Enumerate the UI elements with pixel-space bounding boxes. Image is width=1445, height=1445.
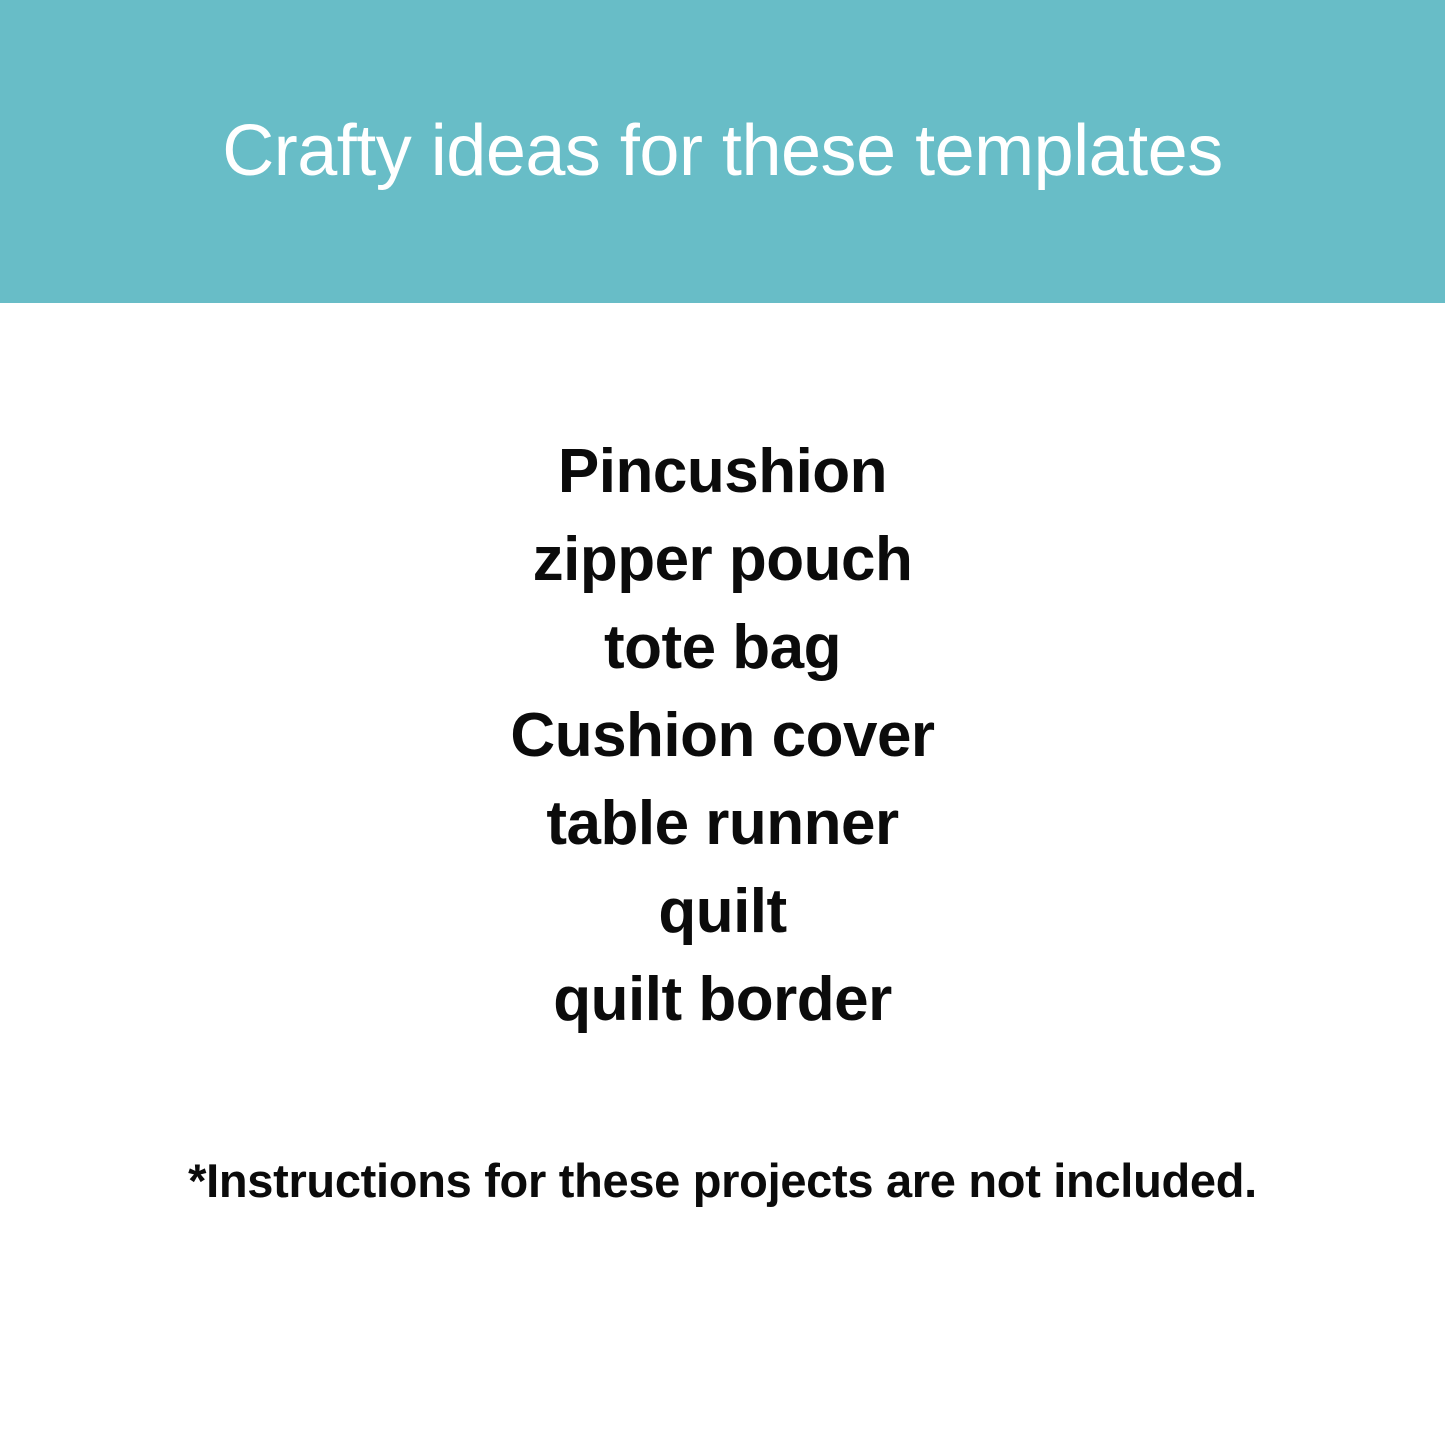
disclaimer-footnote: *Instructions for these projects are not…: [0, 1155, 1445, 1207]
product-info-graphic: Crafty ideas for these templates Pincush…: [0, 0, 1445, 1445]
content-area: Pincushion zipper pouch tote bag Cushion…: [0, 303, 1445, 1445]
page-title: Crafty ideas for these templates: [182, 112, 1262, 191]
list-item: Cushion cover: [0, 692, 1445, 780]
list-item: zipper pouch: [0, 516, 1445, 604]
list-item: tote bag: [0, 604, 1445, 692]
craft-ideas-list: Pincushion zipper pouch tote bag Cushion…: [0, 428, 1445, 1044]
header-banner: Crafty ideas for these templates: [0, 0, 1445, 303]
list-item: quilt: [0, 868, 1445, 956]
list-item: table runner: [0, 780, 1445, 868]
list-item: quilt border: [0, 956, 1445, 1044]
list-item: Pincushion: [0, 428, 1445, 516]
